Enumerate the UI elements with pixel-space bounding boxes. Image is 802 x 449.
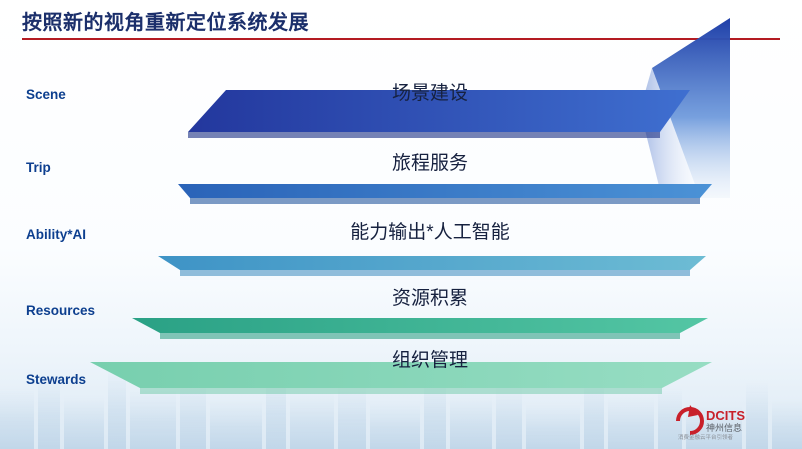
logo-mark (678, 405, 702, 433)
pyramid-text-4: 资源积累 (300, 283, 560, 310)
logo-tagline: 消费金融云平台引领者 (678, 433, 734, 441)
logo-brand-cn: 神州信息 (706, 422, 742, 433)
pyramid-label-4: Resources (26, 303, 95, 318)
pyramid-label-2: Trip (26, 160, 51, 175)
pyramid-layer-3-edge (180, 270, 690, 276)
pyramid-label-3: Ability*AI (26, 227, 86, 242)
pyramid-layer-5-edge (140, 388, 662, 394)
pyramid-layer-4-edge (160, 333, 680, 339)
pyramid-text-3: 能力输出*人工智能 (280, 217, 580, 244)
pyramid-label-5: Stewards (26, 372, 86, 387)
slide-canvas: 按照新的视角重新定位系统发展 (0, 0, 802, 449)
logo-brand: DCITS (706, 408, 745, 423)
dcits-logo: DCITS 神州信息 消费金融云平台引领者 (672, 401, 792, 441)
pyramid-layer-1-edge (188, 132, 660, 138)
pyramid-layer-4 (132, 318, 708, 333)
pyramid-text-5: 组织管理 (300, 345, 560, 372)
pyramid-layer-2 (178, 184, 712, 198)
pyramid-layer-3 (158, 256, 706, 270)
pyramid-layer-2-edge (190, 198, 700, 204)
pyramid-text-2: 旅程服务 (300, 148, 560, 175)
pyramid-label-1: Scene (26, 87, 66, 102)
pyramid-text-1: 场景建设 (300, 78, 560, 105)
